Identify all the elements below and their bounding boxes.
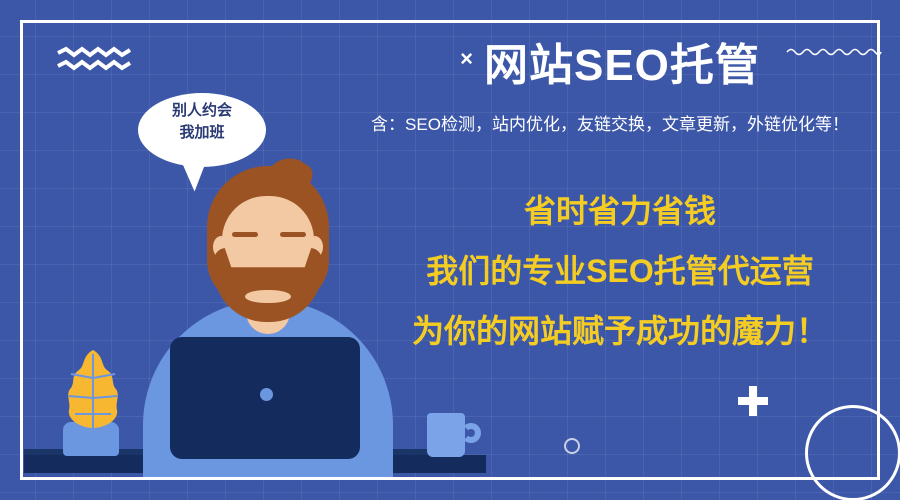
speech-bubble-line-1: 别人约会 bbox=[138, 100, 266, 122]
slogan-line-3: 为你的网站赋予成功的魔力！ bbox=[360, 315, 880, 347]
corner-circle-icon bbox=[805, 405, 900, 500]
slogan-line-2: 我们的专业SEO托管代运营 bbox=[360, 255, 880, 287]
title-text: 网站SEO托管 bbox=[484, 41, 760, 90]
wave-lines-icon bbox=[56, 46, 132, 72]
title-x-mark-icon: × bbox=[460, 46, 474, 71]
seo-promo-banner: 别人约会 我加班 ×网站SEO托管 含：SEO检测，站内优化，友链交换，文章更新… bbox=[0, 0, 900, 500]
plant-leaf-icon bbox=[55, 348, 131, 432]
circle-outline-icon bbox=[564, 438, 580, 454]
subtitle: 含：SEO检测，站内优化，友链交换，文章更新，外链优化等！ bbox=[330, 115, 890, 135]
person-mouth bbox=[245, 290, 291, 303]
slogan-line-1: 省时省力省钱 bbox=[360, 195, 880, 227]
page-title: ×网站SEO托管 bbox=[340, 44, 880, 88]
mug-body bbox=[427, 413, 465, 457]
speech-bubble-text: 别人约会 我加班 bbox=[138, 100, 266, 144]
laptop-logo-icon bbox=[260, 388, 273, 401]
plus-icon bbox=[738, 386, 768, 416]
slogan-block: 省时省力省钱 我们的专业SEO托管代运营 为你的网站赋予成功的魔力！ bbox=[360, 195, 880, 347]
person-eyebrow-left bbox=[232, 232, 258, 237]
speech-bubble-line-2: 我加班 bbox=[138, 122, 266, 144]
person-eyebrow-right bbox=[280, 232, 306, 237]
